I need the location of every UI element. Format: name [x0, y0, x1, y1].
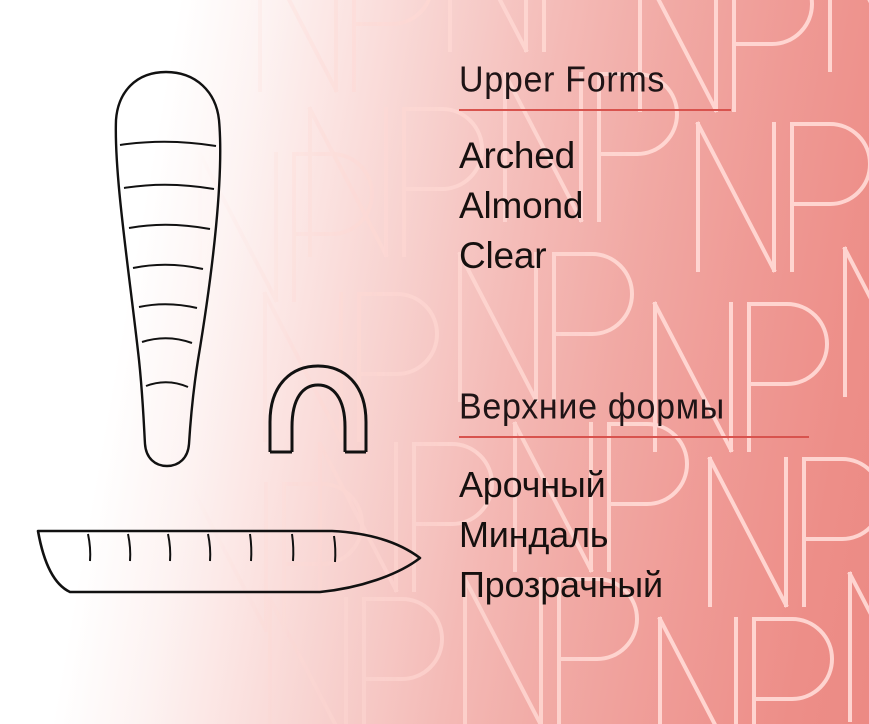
list-item: Almond — [459, 181, 859, 231]
section-upper-forms-ru: Верхние формы Арочный Миндаль Прозрачный — [459, 389, 859, 610]
nail-form-illustrations — [0, 0, 440, 724]
nail-form-arch-cross-section — [270, 366, 366, 452]
form-list-en: Arched Almond Clear — [459, 131, 859, 281]
nail-form-side-view — [38, 531, 420, 592]
form-list-ru: Арочный Миндаль Прозрачный — [459, 460, 859, 610]
section-upper-forms-en: Upper Forms Arched Almond Clear — [459, 62, 859, 281]
section-rule-ru — [459, 436, 809, 438]
list-item: Арочный — [459, 460, 859, 510]
section-rule-en — [459, 109, 731, 111]
list-item: Миндаль — [459, 510, 859, 560]
poster-canvas: Upper Forms Arched Almond Clear Верхние … — [0, 0, 869, 724]
list-item: Clear — [459, 231, 859, 281]
section-heading-ru: Верхние формы — [459, 389, 859, 427]
text-column: Upper Forms Arched Almond Clear Верхние … — [459, 0, 869, 724]
list-item: Arched — [459, 131, 859, 181]
list-item: Прозрачный — [459, 560, 859, 610]
section-heading-en: Upper Forms — [459, 62, 859, 100]
nail-form-illustrations-svg — [0, 0, 440, 724]
nail-form-top-view — [116, 72, 220, 466]
